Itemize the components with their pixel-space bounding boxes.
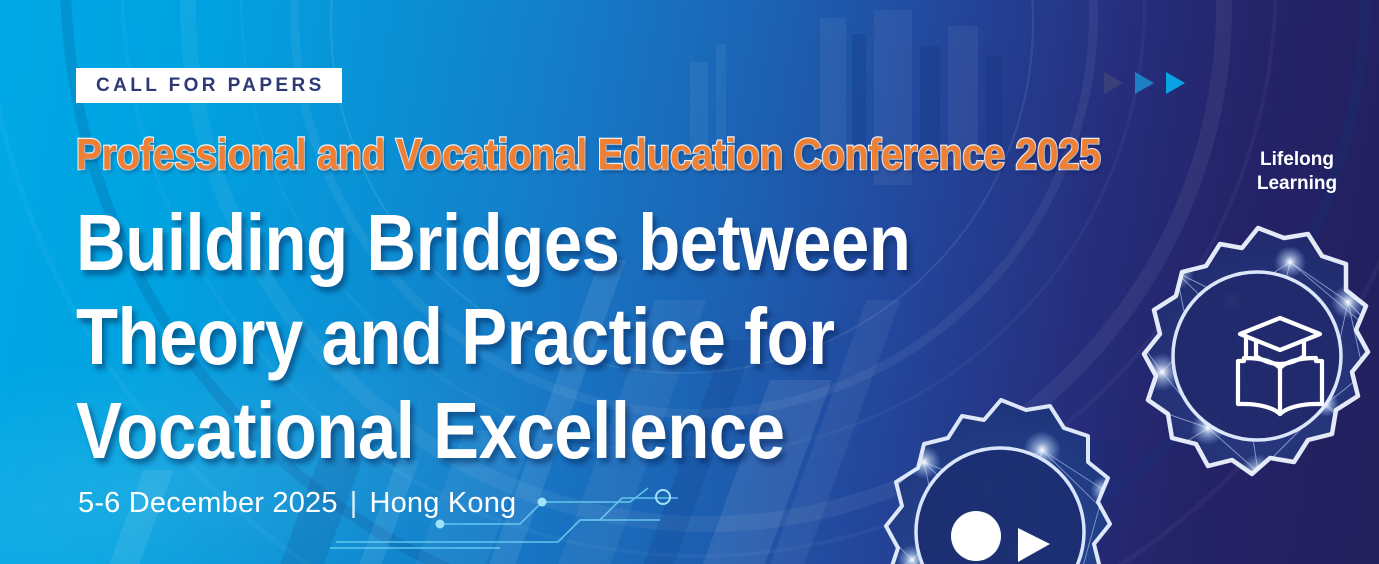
event-separator: | <box>338 487 370 520</box>
conference-banner: CALL FOR PAPERS Professional and Vocatio… <box>0 0 1379 564</box>
play-arrow-icon-2 <box>1135 72 1154 94</box>
page-title: Building Bridges between Theory and Prac… <box>76 196 1076 478</box>
graduation-cap-book-icon <box>1224 308 1336 420</box>
event-details: 5-6 December 2025|Hong Kong <box>78 487 516 520</box>
headline-line-2: Theory and Practice for <box>76 290 936 384</box>
play-arrow-icon-3 <box>1166 72 1185 94</box>
lifelong-line-2: Learning <box>1237 172 1357 196</box>
headline-line-1: Building Bridges between <box>76 196 936 290</box>
play-arrow-icon-1 <box>1104 72 1123 94</box>
call-for-papers-badge: CALL FOR PAPERS <box>76 68 342 103</box>
lifelong-line-1: Lifelong <box>1237 148 1357 172</box>
lifelong-learning-label: Lifelong Learning <box>1237 148 1357 196</box>
conference-subtitle: Professional and Vocational Education Co… <box>76 130 1101 180</box>
banner-content: CALL FOR PAPERS Professional and Vocatio… <box>76 0 1176 564</box>
event-dates: 5-6 December 2025 <box>78 487 338 519</box>
arrow-decoration-group <box>1104 72 1185 94</box>
headline-line-3: Vocational Excellence <box>76 384 936 478</box>
event-location: Hong Kong <box>369 487 516 519</box>
